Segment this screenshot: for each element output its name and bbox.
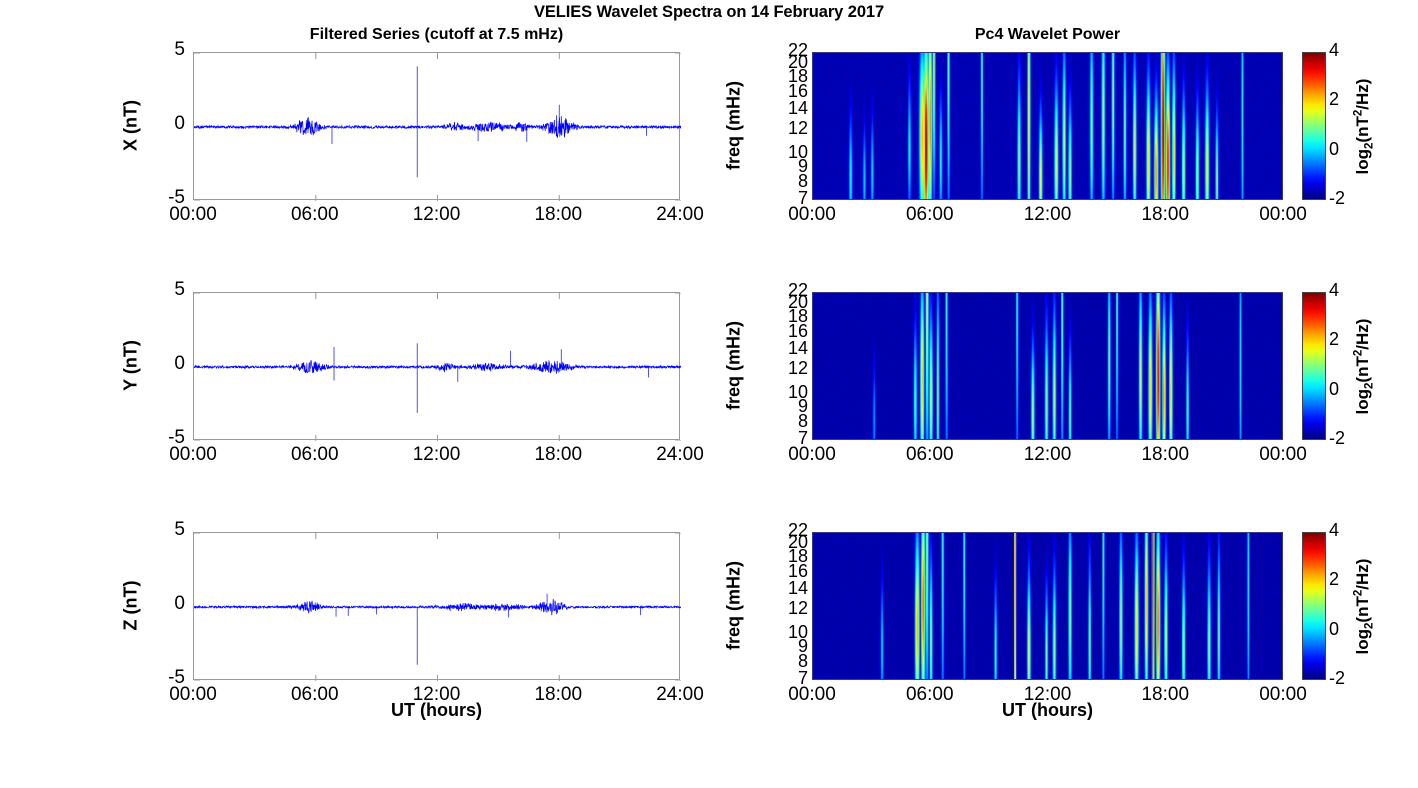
spectrogram-image-x [813, 53, 1283, 200]
timeseries-ylabel-y: Y (nT) [121, 286, 142, 446]
colorbar [1302, 52, 1326, 200]
spectrogram-xtick: 06:00 [885, 444, 975, 466]
timeseries-panel-z [193, 532, 680, 680]
spectrogram-xtick: 00:00 [1238, 204, 1328, 226]
timeseries-ytick: 5 [145, 519, 185, 541]
spectrogram-xtick: 00:00 [767, 444, 857, 466]
spectrogram-panel-y [812, 292, 1283, 440]
spectrogram-xtick: 00:00 [1238, 444, 1328, 466]
timeseries-trace-y [194, 293, 681, 441]
colorbar [1302, 292, 1326, 440]
timeseries-ytick: 0 [145, 353, 185, 375]
spectrogram-xtick: 00:00 [767, 204, 857, 226]
spectrogram-xtick: 06:00 [885, 204, 975, 226]
spectrogram-ytick: 12 [768, 119, 808, 137]
timeseries-xtick: 00:00 [148, 444, 238, 466]
spectrogram-ytick: 12 [768, 599, 808, 617]
colorbar [1302, 532, 1326, 680]
right-xaxis-label: UT (hours) [812, 700, 1283, 721]
colorbar-label: log2(nT2/Hz) [1352, 282, 1375, 452]
figure-title: VELIES Wavelet Spectra on 14 February 20… [0, 3, 1418, 22]
spectrogram-xtick: 12:00 [1003, 204, 1093, 226]
spectrogram-ylabel: freq (mHz) [724, 36, 745, 216]
spectrogram-ytick: 14 [768, 99, 808, 117]
timeseries-xtick: 24:00 [635, 204, 725, 226]
spectrogram-ylabel: freq (mHz) [724, 276, 745, 456]
spectrogram-ylabel: freq (mHz) [724, 516, 745, 696]
spectrogram-xtick: 12:00 [1003, 444, 1093, 466]
timeseries-xtick: 18:00 [513, 444, 603, 466]
timeseries-xtick: 06:00 [270, 444, 360, 466]
timeseries-ylabel-x: X (nT) [121, 46, 142, 206]
spectrogram-xtick: 18:00 [1120, 204, 1210, 226]
timeseries-xtick: 18:00 [513, 204, 603, 226]
timeseries-trace-z [194, 533, 681, 681]
timeseries-xtick: 12:00 [392, 204, 482, 226]
timeseries-xtick: 12:00 [392, 444, 482, 466]
figure-canvas: VELIES Wavelet Spectra on 14 February 20… [0, 0, 1418, 788]
colorbar-label: log2(nT2/Hz) [1352, 42, 1375, 212]
spectrogram-image-z [813, 533, 1283, 680]
timeseries-xtick: 06:00 [270, 204, 360, 226]
left-xaxis-label: UT (hours) [193, 700, 680, 721]
timeseries-panel-x [193, 52, 680, 200]
spectrogram-ytick: 14 [768, 579, 808, 597]
timeseries-xtick: 00:00 [148, 204, 238, 226]
spectrogram-xtick: 18:00 [1120, 444, 1210, 466]
timeseries-ytick: 0 [145, 593, 185, 615]
right-column-title: Pc4 Wavelet Power [812, 26, 1283, 44]
spectrogram-ytick: 14 [768, 339, 808, 357]
spectrogram-panel-z [812, 532, 1283, 680]
left-column-title: Filtered Series (cutoff at 7.5 mHz) [193, 26, 680, 44]
colorbar-label: log2(nT2/Hz) [1352, 522, 1375, 692]
spectrogram-panel-x [812, 52, 1283, 200]
timeseries-ytick: 5 [145, 39, 185, 61]
timeseries-panel-y [193, 292, 680, 440]
spectrogram-image-y [813, 293, 1283, 440]
spectrogram-ytick: 12 [768, 359, 808, 377]
timeseries-ytick: 0 [145, 113, 185, 135]
timeseries-xtick: 24:00 [635, 444, 725, 466]
timeseries-ytick: 5 [145, 279, 185, 301]
timeseries-trace-x [194, 53, 681, 201]
timeseries-ylabel-z: Z (nT) [121, 526, 142, 686]
